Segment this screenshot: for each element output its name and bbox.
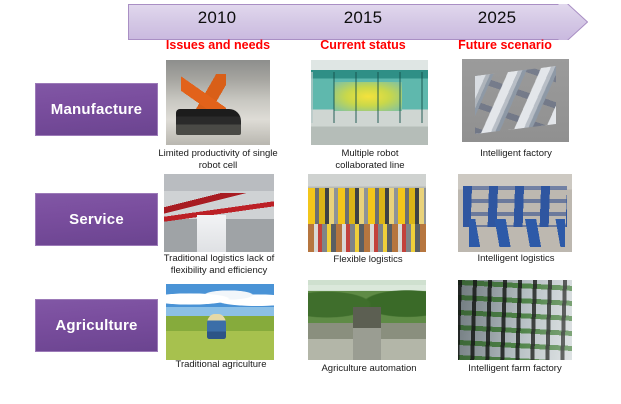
cell-service-future (458, 174, 572, 252)
multi-robot-glass-cell-photo (311, 60, 428, 145)
category-label-agriculture: Agriculture (55, 317, 137, 334)
greenhouse-automation-photo (308, 280, 426, 360)
roadmap-slide: 2010 2015 2025 Issues and needs Current … (0, 0, 621, 404)
caption-manufacture-future: Intelligent factory (452, 148, 580, 160)
caption-service-future: Intelligent logistics (452, 253, 580, 265)
industrial-robot-arm-photo (166, 60, 270, 145)
vertical-farm-racks-photo (458, 280, 572, 360)
cell-manufacture-current (311, 60, 428, 145)
flexible-warehouse-sorting-photo (308, 174, 426, 252)
cell-manufacture-future (462, 59, 569, 142)
cell-service-issues (164, 174, 274, 252)
caption-agriculture-issues: Traditional agriculture (146, 359, 296, 371)
category-label-service: Service (69, 211, 124, 228)
caption-agriculture-current: Agriculture automation (306, 363, 432, 375)
intelligent-warehouse-shelving-photo (458, 174, 572, 252)
category-label-manufacture: Manufacture (51, 101, 142, 118)
conveyor-logistics-line-photo (164, 174, 274, 252)
timeline-year-2025: 2025 (452, 8, 542, 28)
cell-manufacture-issues (166, 60, 270, 145)
cell-service-current (308, 174, 426, 252)
intelligent-factory-3d-render (462, 59, 569, 142)
phase-label-current-status: Current status (300, 38, 426, 52)
farmer-in-field-photo (166, 284, 274, 360)
caption-agriculture-future: Intelligent farm factory (448, 363, 582, 375)
category-box-agriculture: Agriculture (35, 299, 158, 352)
cell-agriculture-current (308, 280, 426, 360)
timeline-year-2010: 2010 (172, 8, 262, 28)
cell-agriculture-future (458, 280, 572, 360)
caption-manufacture-current: Multiple robot collaborated line (312, 148, 428, 171)
phase-label-future-scenario: Future scenario (440, 38, 570, 52)
cell-agriculture-issues (166, 284, 274, 360)
phase-label-issues-and-needs: Issues and needs (152, 38, 284, 52)
caption-service-issues: Traditional logistics lack of flexibilit… (136, 253, 302, 276)
caption-service-current: Flexible logistics (310, 254, 426, 266)
category-box-service: Service (35, 193, 158, 246)
caption-manufacture-issues: Limited productivity of single robot cel… (140, 148, 296, 171)
timeline-year-2015: 2015 (318, 8, 408, 28)
category-box-manufacture: Manufacture (35, 83, 158, 136)
